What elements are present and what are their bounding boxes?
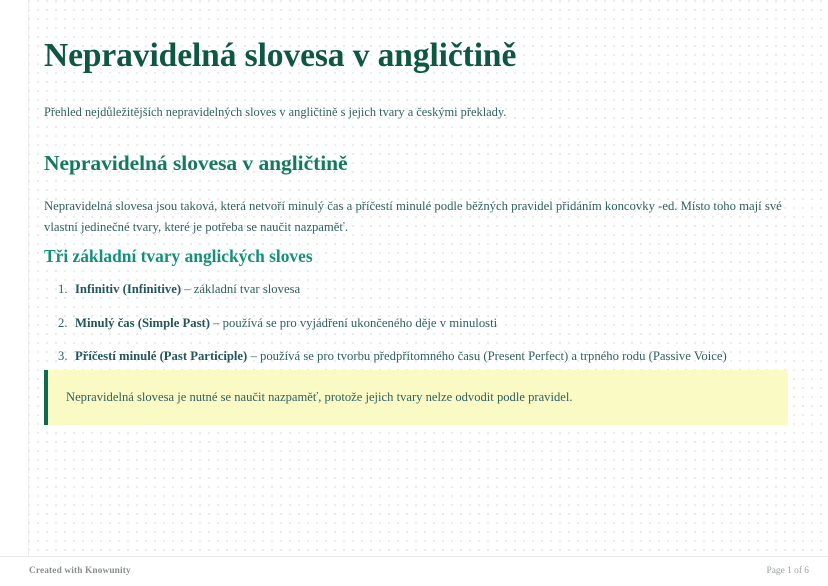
list-item-description: – používá se pro vyjádření ukončeného dě…	[210, 316, 497, 330]
list-item-number: 3.	[58, 347, 75, 366]
list-item-description: – používá se pro tvorbu předpřítomného č…	[247, 349, 726, 363]
list-item-number: 1.	[58, 280, 75, 299]
list-item-term: Příčestí minulé (Past Participle)	[75, 349, 247, 363]
list-item: 2.Minulý čas (Simple Past) – používá se …	[44, 314, 790, 333]
footer-brand: Created with Knowunity	[29, 566, 131, 576]
list-item-number: 2.	[58, 314, 75, 333]
subsection-heading: Tři základní tvary anglických sloves	[44, 246, 313, 267]
highlight-callout: Nepravidelná slovesa je nutné se naučit …	[44, 370, 788, 425]
document-subtitle: Přehled nejdůležitějších nepravidelných …	[44, 104, 790, 122]
footer-page-number: Page 1 of 6	[767, 566, 809, 576]
document-page: Nepravidelná slovesa v angličtině Přehle…	[0, 0, 828, 586]
verb-forms-list: 1.Infinitiv (Infinitive) – základní tvar…	[44, 280, 790, 366]
callout-text: Nepravidelná slovesa je nutné se naučit …	[48, 388, 587, 406]
left-margin-divider	[28, 0, 29, 556]
list-item: 1.Infinitiv (Infinitive) – základní tvar…	[44, 280, 790, 299]
dotted-grid-background	[28, 0, 828, 556]
section-paragraph: Nepravidelná slovesa jsou taková, která …	[44, 196, 788, 237]
list-item-term: Infinitiv (Infinitive)	[75, 282, 181, 296]
page-title: Nepravidelná slovesa v angličtině	[44, 36, 516, 76]
page-footer: Created with Knowunity Page 1 of 6	[0, 557, 828, 586]
left-margin-gutter	[0, 0, 28, 556]
list-item: 3.Příčestí minulé (Past Participle) – po…	[44, 347, 790, 366]
list-item-term: Minulý čas (Simple Past)	[75, 316, 210, 330]
section-heading: Nepravidelná slovesa v angličtině	[44, 151, 348, 177]
list-item-description: – základní tvar slovesa	[181, 282, 300, 296]
